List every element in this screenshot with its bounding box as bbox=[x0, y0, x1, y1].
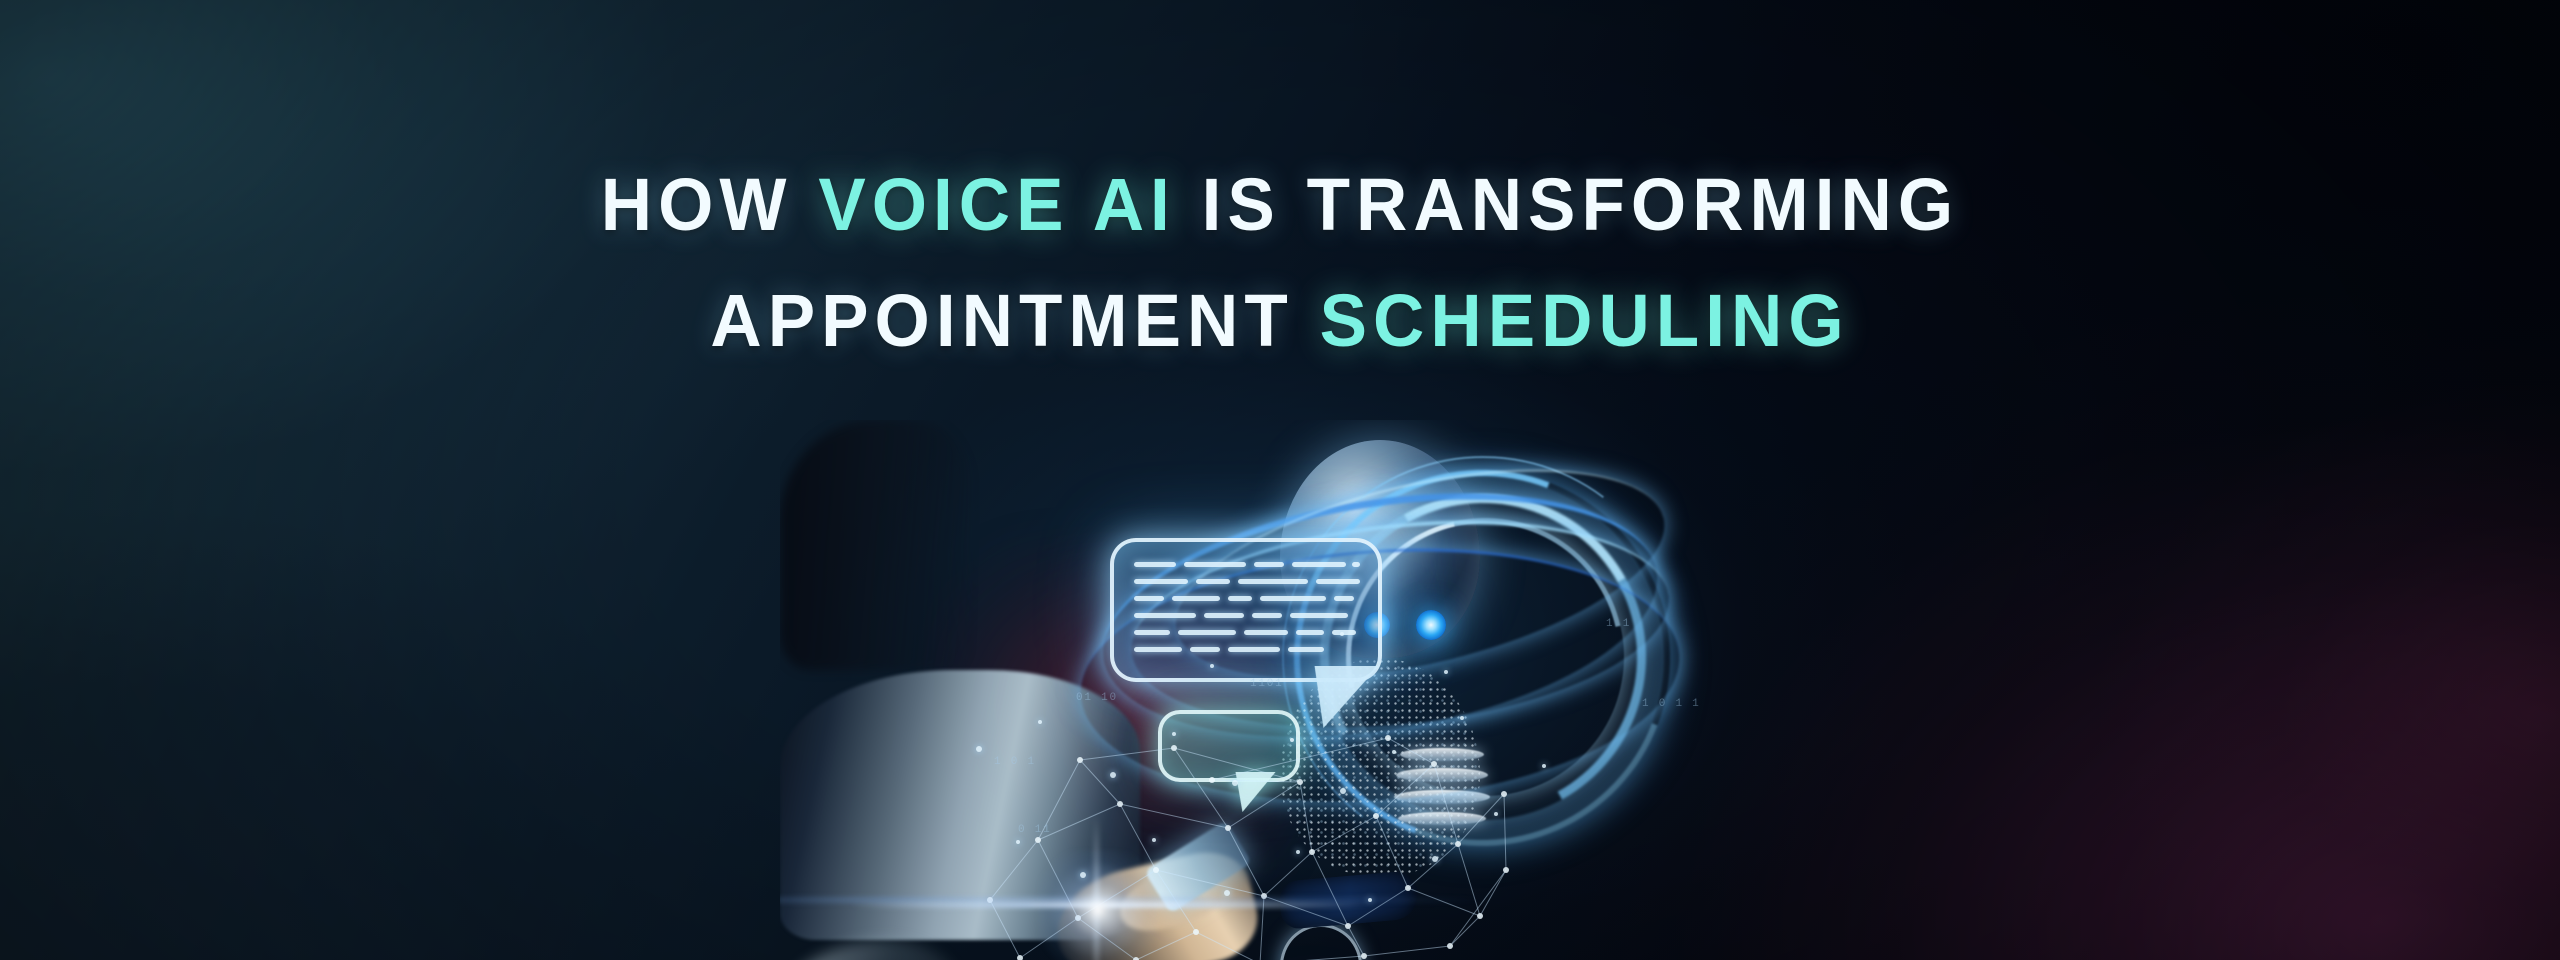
chat-bubble-text-line bbox=[1352, 562, 1360, 567]
headline-word-appointment: APPOINTMENT bbox=[710, 279, 1293, 362]
particle-dot bbox=[1080, 872, 1086, 878]
hud-code: 1 0 1 1 bbox=[1642, 698, 1701, 710]
particle-dot bbox=[1392, 750, 1396, 754]
particle-dot bbox=[1016, 840, 1020, 844]
mesh-node bbox=[1345, 923, 1351, 929]
mesh-node bbox=[1209, 777, 1215, 783]
chat-bubble-text-line bbox=[1316, 579, 1360, 584]
headline-line-2: APPOINTMENT SCHEDULING bbox=[51, 284, 2509, 358]
mesh-node bbox=[1373, 813, 1379, 819]
mesh-node bbox=[1225, 825, 1231, 831]
particle-dot bbox=[1494, 812, 1498, 816]
chat-bubble-text-line bbox=[1228, 647, 1280, 652]
chat-bubble-text-line bbox=[1288, 647, 1324, 652]
particle-dot bbox=[1152, 838, 1156, 842]
chat-bubble-text-line bbox=[1134, 647, 1182, 652]
particle-dot bbox=[1340, 632, 1344, 636]
mesh-edge bbox=[1408, 888, 1480, 916]
chat-bubble-text-line bbox=[1204, 613, 1244, 618]
mesh-node bbox=[1309, 849, 1315, 855]
hud-code: 1 1 bbox=[1606, 618, 1631, 630]
mesh-edge bbox=[1504, 794, 1506, 870]
mesh-edge bbox=[1080, 760, 1120, 804]
mesh-edge bbox=[1376, 764, 1434, 816]
mesh-node bbox=[1405, 885, 1411, 891]
chat-bubble-text-line bbox=[1134, 613, 1196, 618]
headline-word-is-transforming: IS TRANSFORMING bbox=[1202, 163, 1960, 246]
hud-code: 01 10 bbox=[1076, 692, 1118, 704]
particle-dot bbox=[976, 746, 982, 752]
chat-bubble-text-line bbox=[1134, 562, 1176, 567]
headline-word-how: HOW bbox=[601, 163, 793, 246]
particle-dot bbox=[1232, 780, 1238, 786]
mesh-edge bbox=[1260, 956, 1364, 960]
mesh-edge bbox=[1300, 782, 1312, 852]
woman-shoulder-highlight bbox=[780, 940, 960, 960]
mesh-node bbox=[1385, 735, 1391, 741]
particle-dot bbox=[1290, 738, 1294, 742]
chat-bubble-text-line bbox=[1332, 630, 1356, 635]
mesh-edge bbox=[1348, 926, 1364, 956]
hud-code: 1 0 1 bbox=[994, 756, 1036, 768]
mesh-node bbox=[1193, 929, 1199, 935]
chat-bubble-text-line bbox=[1178, 630, 1236, 635]
mesh-node bbox=[1503, 867, 1509, 873]
mesh-node bbox=[1447, 943, 1453, 949]
chat-bubble-text-line bbox=[1190, 647, 1220, 652]
mesh-node bbox=[1361, 953, 1367, 959]
particle-dot bbox=[1110, 772, 1116, 778]
chat-bubble-text-line bbox=[1184, 562, 1246, 567]
headline-word-voice-ai: VOICE AI bbox=[818, 163, 1176, 246]
mesh-edge bbox=[1458, 844, 1480, 916]
mesh-node bbox=[1477, 913, 1483, 919]
mesh-edge bbox=[1228, 828, 1264, 896]
mesh-edge bbox=[1212, 780, 1300, 782]
chat-bubble-text-line bbox=[1134, 596, 1164, 601]
mesh-edge bbox=[990, 840, 1038, 900]
mesh-edge bbox=[1480, 870, 1506, 916]
chat-bubble-text-line bbox=[1134, 579, 1188, 584]
particle-dot bbox=[1460, 716, 1464, 720]
headline-word-scheduling: SCHEDULING bbox=[1320, 279, 1850, 362]
particle-dot bbox=[1038, 720, 1042, 724]
hero-illustration: 01 10 1 0 1 1101 0 11 1 1 1 0 1 1 bbox=[780, 420, 1800, 960]
mesh-edge bbox=[1212, 738, 1388, 780]
mesh-edge bbox=[1450, 916, 1480, 946]
particle-dot bbox=[1296, 850, 1300, 854]
headline-line-1: HOW VOICE AI IS TRANSFORMING bbox=[51, 168, 2509, 242]
chat-bubble-text-line bbox=[1260, 596, 1326, 601]
lens-flare-core bbox=[1038, 850, 1158, 960]
chat-bubble-text-lines bbox=[1134, 562, 1362, 660]
chat-bubble-text-line bbox=[1290, 613, 1348, 618]
mesh-edge bbox=[1408, 844, 1458, 888]
particle-dot bbox=[1444, 670, 1448, 674]
chat-bubble-text-line bbox=[1238, 579, 1308, 584]
mesh-edge bbox=[1080, 748, 1174, 760]
mesh-edge bbox=[1120, 804, 1228, 828]
mesh-edge bbox=[1364, 946, 1450, 956]
mesh-node bbox=[1017, 955, 1023, 960]
particle-dot bbox=[1172, 732, 1176, 736]
chat-bubble-large-tail bbox=[1301, 666, 1378, 728]
particle-dot bbox=[1340, 788, 1346, 794]
page-title: HOW VOICE AI IS TRANSFORMING APPOINTMENT… bbox=[0, 168, 2560, 358]
mesh-node bbox=[1035, 837, 1041, 843]
hud-code: 1101 bbox=[1250, 678, 1283, 690]
particle-dot bbox=[1432, 856, 1438, 862]
particle-dot bbox=[1210, 664, 1214, 668]
chat-bubble-text-line bbox=[1334, 596, 1354, 601]
chat-bubble-text-line bbox=[1254, 562, 1284, 567]
chat-bubble-text-line bbox=[1244, 630, 1288, 635]
mesh-node bbox=[1455, 841, 1461, 847]
mesh-node bbox=[1501, 791, 1507, 797]
mesh-edge bbox=[1376, 816, 1408, 888]
chat-bubble-text-line bbox=[1228, 596, 1252, 601]
mesh-edge bbox=[1196, 932, 1260, 960]
mesh-node bbox=[1077, 757, 1083, 763]
mesh-node bbox=[1431, 761, 1437, 767]
chat-bubble-text-line bbox=[1172, 596, 1220, 601]
mesh-edge bbox=[1156, 870, 1264, 896]
chat-bubble-text-line bbox=[1196, 579, 1230, 584]
chat-bubble-text-line bbox=[1134, 630, 1170, 635]
hero-banner: HOW VOICE AI IS TRANSFORMING APPOINTMENT… bbox=[0, 0, 2560, 960]
mesh-node bbox=[1297, 779, 1303, 785]
hud-code: 0 11 bbox=[1018, 824, 1051, 836]
mesh-edge bbox=[1458, 794, 1504, 844]
mesh-edge bbox=[1228, 782, 1300, 828]
chat-bubble-text-line bbox=[1252, 613, 1282, 618]
mesh-node bbox=[1117, 801, 1123, 807]
mesh-edge bbox=[1434, 764, 1458, 844]
woman-torso-shadow bbox=[780, 420, 970, 670]
particle-dot bbox=[1542, 764, 1546, 768]
particle-dot bbox=[1224, 890, 1230, 896]
mesh-edge bbox=[1264, 852, 1312, 896]
mesh-edge bbox=[990, 900, 1020, 958]
chat-bubble-text-line bbox=[1292, 562, 1346, 567]
mesh-node bbox=[1171, 745, 1177, 751]
chat-bubble-text-line bbox=[1296, 630, 1324, 635]
particle-dot bbox=[1368, 898, 1372, 902]
mesh-edge bbox=[1174, 748, 1300, 782]
mesh-edge bbox=[1312, 816, 1376, 852]
